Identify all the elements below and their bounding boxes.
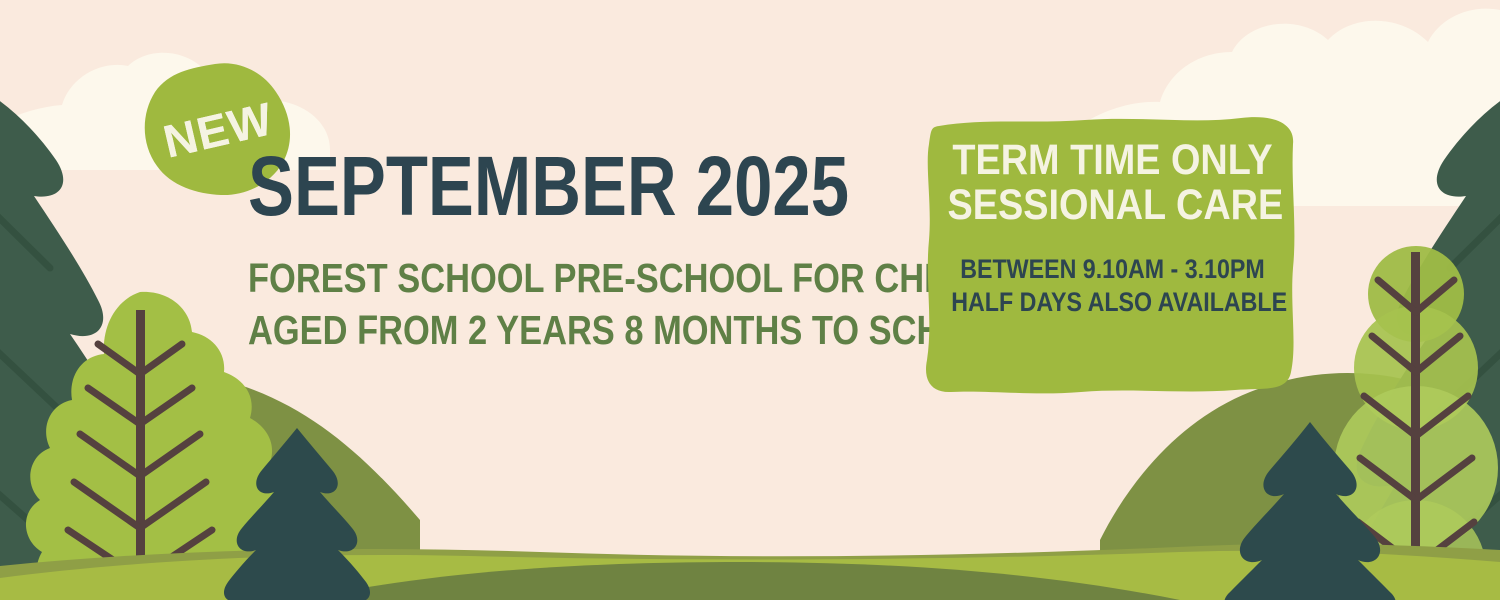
card-content: TERM TIME ONLY SESSIONAL CARE BETWEEN 9.… bbox=[925, 138, 1300, 318]
card-title-line-1: TERM TIME ONLY bbox=[948, 138, 1278, 183]
card-title-line-2: SESSIONAL CARE bbox=[948, 183, 1278, 228]
subtitle-block: FOREST SCHOOL PRE-SCHOOL FOR CHILDREN AG… bbox=[248, 253, 908, 355]
subtitle-line-1: FOREST SCHOOL PRE-SCHOOL FOR CHILDREN bbox=[248, 253, 802, 303]
page-title: SEPTEMBER 2025 bbox=[248, 148, 789, 225]
headline-block: SEPTEMBER 2025 FOREST SCHOOL PRE-SCHOOL … bbox=[248, 148, 908, 355]
term-time-card[interactable]: TERM TIME ONLY SESSIONAL CARE BETWEEN 9.… bbox=[925, 108, 1300, 398]
forest-school-banner: NEW SEPTEMBER 2025 FOREST SCHOOL PRE-SCH… bbox=[0, 0, 1500, 600]
card-detail-line-1: BETWEEN 9.10AM - 3.10PM bbox=[951, 253, 1274, 285]
card-details: BETWEEN 9.10AM - 3.10PM HALF DAYS ALSO A… bbox=[925, 253, 1300, 318]
card-detail-line-2: HALF DAYS ALSO AVAILABLE bbox=[951, 286, 1274, 318]
subtitle-line-2: AGED FROM 2 YEARS 8 MONTHS TO SCHOOL bbox=[248, 305, 802, 355]
